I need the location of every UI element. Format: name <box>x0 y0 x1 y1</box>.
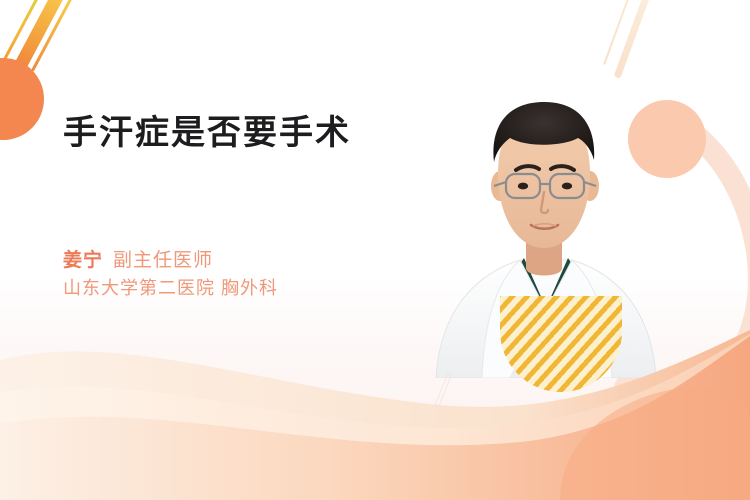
stripe-line <box>10 0 67 78</box>
page-title: 手汗症是否要手术 <box>63 112 443 155</box>
doctor-name-row: 姜宁副主任医师 <box>63 246 463 275</box>
bottom-wave-decoration <box>0 300 750 500</box>
title-block: 手汗症是否要手术 <box>63 112 443 155</box>
doctor-affiliation: 山东大学第二医院 胸外科 <box>63 278 278 298</box>
stripe-line <box>31 0 73 72</box>
doctor-name: 姜宁 <box>63 250 103 271</box>
stripe-line <box>0 0 47 75</box>
doctor-rank: 副主任医师 <box>113 250 213 271</box>
doctor-affiliation-row: 山东大学第二医院 胸外科 <box>63 275 463 303</box>
orange-circle-icon <box>0 58 44 140</box>
stripe-line <box>603 0 638 65</box>
doctor-credits: 姜宁副主任医师 山东大学第二医院 胸外科 <box>63 246 463 303</box>
stripe-line <box>614 0 656 79</box>
doctor-video-cover: 手汗症是否要手术 姜宁副主任医师 山东大学第二医院 胸外科 <box>0 0 750 500</box>
